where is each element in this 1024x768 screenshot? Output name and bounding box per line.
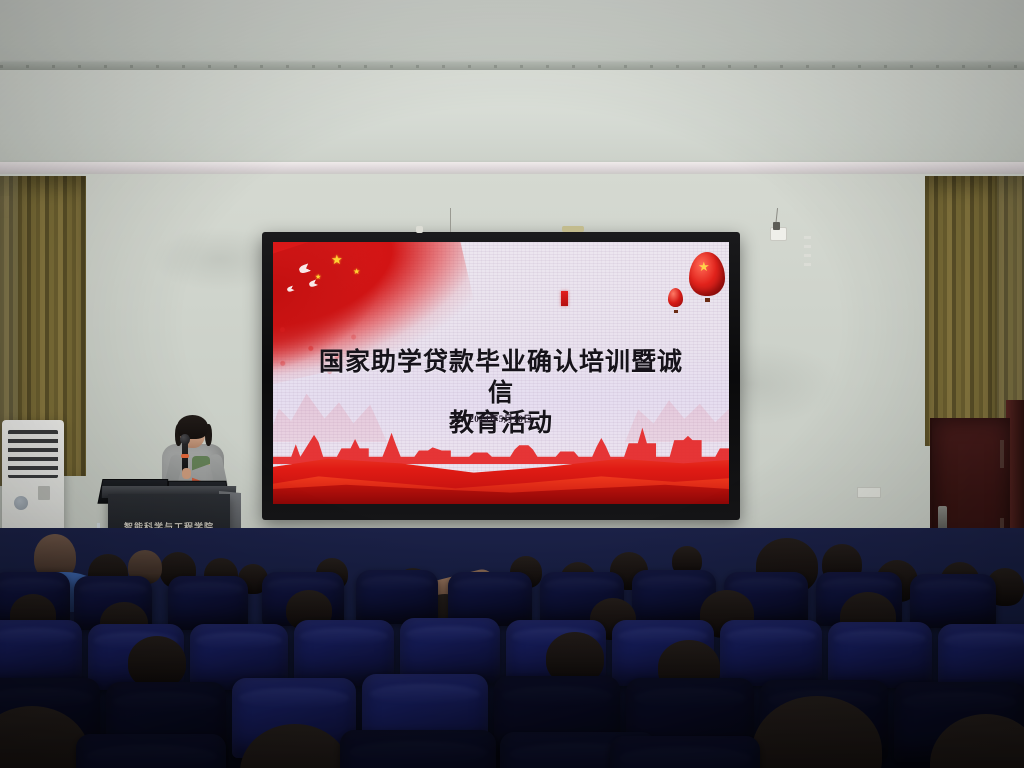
audience-head (128, 636, 186, 688)
presentation-display[interactable]: ★ ★ ★ 国家助学贷款毕业确认培训暨诚信 教育活动 2024年5月18日 (262, 232, 740, 520)
auditorium-photo: ★ ★ ★ 国家助学贷款毕业确认培训暨诚信 教育活动 2024年5月18日 (0, 0, 1024, 768)
balloon-basket (674, 310, 678, 313)
seat[interactable] (610, 736, 760, 768)
ac-vent-icon (8, 430, 58, 478)
wall-sign (857, 487, 881, 498)
seat[interactable] (938, 624, 1024, 690)
seat[interactable] (356, 570, 438, 624)
seat[interactable] (0, 620, 82, 686)
mini-flag-icon (561, 291, 568, 306)
audience-seating (0, 528, 1024, 768)
microphone-head-icon (180, 434, 190, 445)
star-icon: ★ (353, 266, 360, 277)
hot-air-balloon-small-icon (668, 288, 683, 307)
ac-logo-icon (14, 496, 28, 510)
ceiling-soffit (0, 70, 1024, 168)
socket-plug (773, 222, 780, 230)
seat[interactable] (340, 730, 496, 768)
wall-marks (804, 236, 811, 266)
curtain-right (925, 176, 997, 446)
seat[interactable] (828, 622, 932, 688)
seat[interactable] (910, 574, 996, 628)
star-icon: ★ (331, 254, 343, 265)
balloon-basket (705, 298, 710, 302)
speaker-hand (182, 468, 191, 479)
hot-air-balloon-icon (689, 252, 725, 296)
seat[interactable] (168, 576, 248, 630)
door-panel (1000, 440, 1004, 468)
display-cable (450, 208, 451, 232)
display-mount-bracket (562, 226, 584, 232)
seat[interactable] (76, 734, 226, 768)
ac-badge (38, 486, 50, 500)
slide-title-line-1: 国家助学贷款毕业确认培训暨诚信 (307, 348, 695, 409)
slide-date: 2024年5月18日 (307, 412, 695, 425)
slide-title: 国家助学贷款毕业确认培训暨诚信 教育活动 (307, 348, 695, 440)
curtain-right-outer (995, 176, 1024, 426)
display-mount-bracket (416, 226, 423, 233)
microphone-band (181, 454, 189, 458)
seat[interactable] (720, 620, 822, 686)
slide-screen: ★ ★ ★ 国家助学贷款毕业确认培训暨诚信 教育活动 2024年5月18日 (273, 242, 729, 504)
